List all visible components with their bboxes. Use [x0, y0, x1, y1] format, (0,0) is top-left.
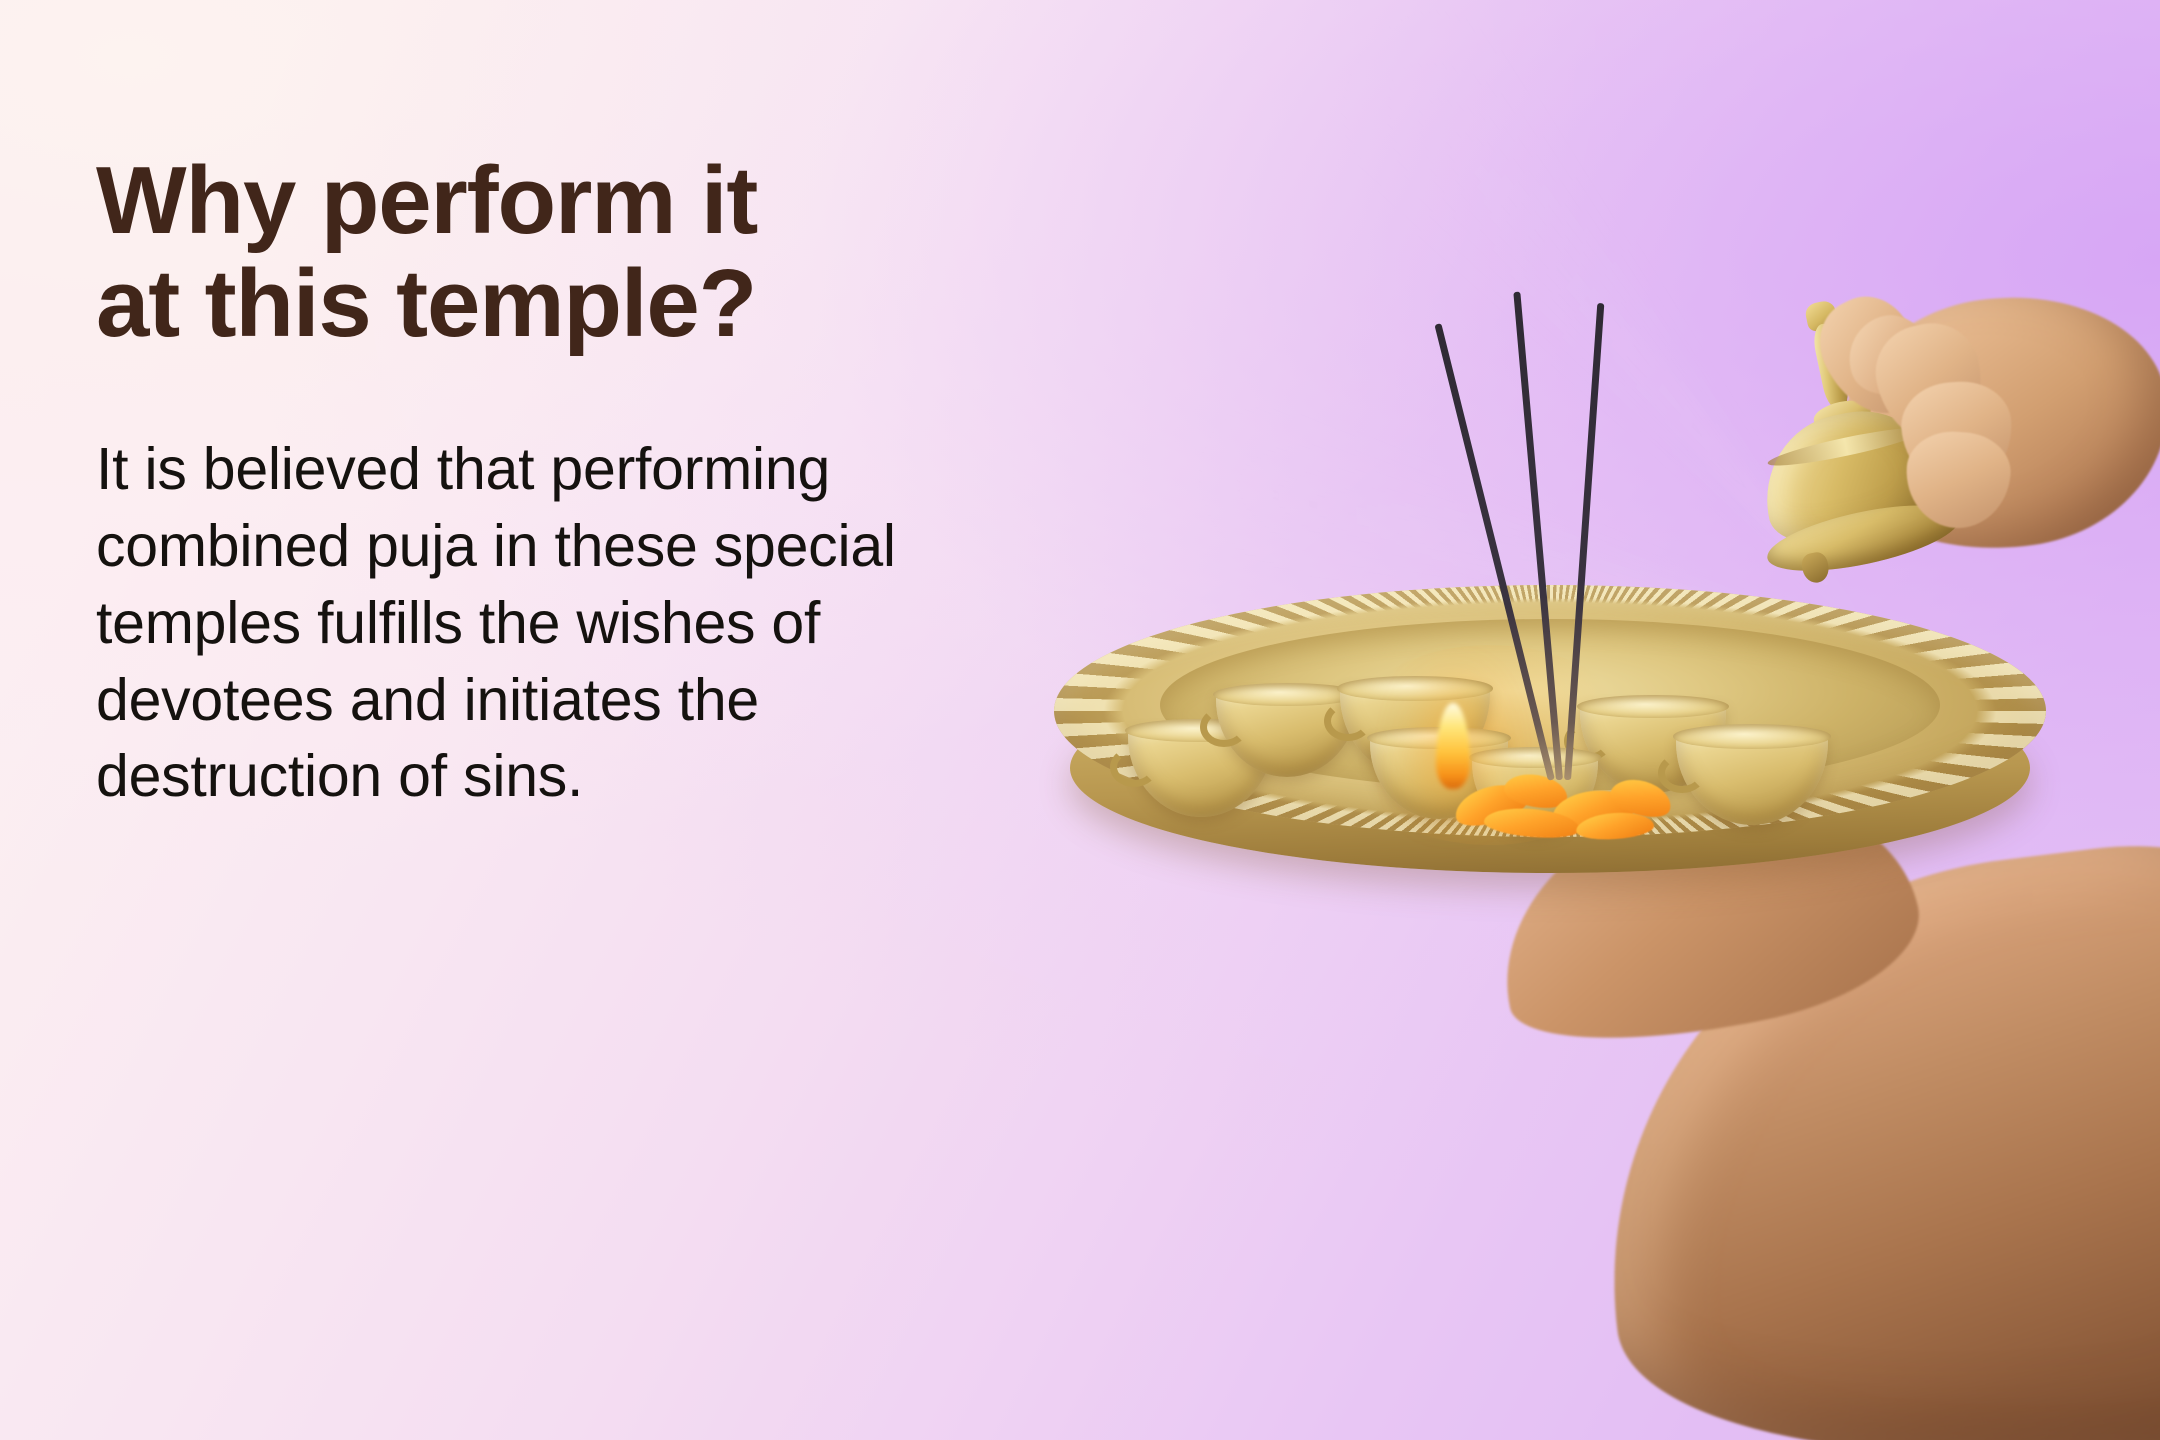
incense-stick [1513, 292, 1563, 781]
incense-stick [1564, 303, 1604, 780]
headline-line-2: at this temple? [96, 253, 996, 356]
headline-line-1: Why perform it [96, 150, 996, 253]
hand-with-bell [1730, 290, 2160, 620]
text-column: Why perform it at this temple? It is bel… [96, 150, 996, 815]
body-paragraph: It is believed that performing combined … [96, 431, 976, 814]
puja-photo [1040, 330, 2160, 1440]
slide-canvas: Why perform it at this temple? It is bel… [0, 0, 2160, 1440]
bowl-handle-icon [1110, 747, 1158, 787]
bowl-handle-icon [1200, 707, 1248, 747]
page-title: Why perform it at this temple? [96, 150, 996, 355]
bowl-handle-icon [1324, 701, 1372, 741]
